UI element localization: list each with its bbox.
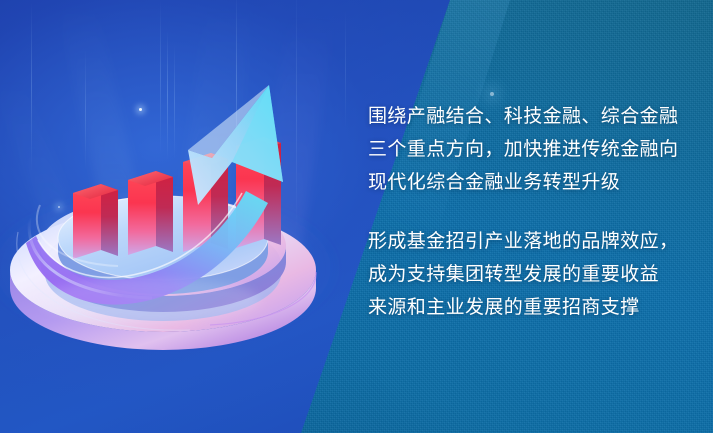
podium-front-bloom <box>40 278 260 322</box>
paragraph-1: 围绕产融结合、科技金融、综合金融 三个重点方向，加快推进传统金融向 现代化综合金… <box>368 100 688 199</box>
paragraph-1-line-1: 围绕产融结合、科技金融、综合金融 <box>368 100 688 133</box>
bar-2 <box>128 171 173 255</box>
bar-1 <box>73 184 118 259</box>
paragraph-1-line-3: 现代化综合金融业务转型升级 <box>368 166 688 199</box>
paragraph-1-line-2: 三个重点方向，加快推进传统金融向 <box>368 133 688 166</box>
paragraph-2-line-2: 成为支持集团转型发展的重要收益 <box>368 258 688 291</box>
paragraph-2-line-1: 形成基金招引产业落地的品牌效应， <box>368 225 688 258</box>
paragraph-2: 形成基金招引产业落地的品牌效应， 成为支持集团转型发展的重要收益 来源和主业发展… <box>368 225 688 324</box>
promo-banner: 围绕产融结合、科技金融、综合金融 三个重点方向，加快推进传统金融向 现代化综合金… <box>0 0 713 433</box>
paragraph-2-line-3: 来源和主业发展的重要招商支撑 <box>368 291 688 324</box>
growth-illustration <box>0 0 360 433</box>
copy-block: 围绕产融结合、科技金融、综合金融 三个重点方向，加快推进传统金融向 现代化综合金… <box>368 100 688 324</box>
